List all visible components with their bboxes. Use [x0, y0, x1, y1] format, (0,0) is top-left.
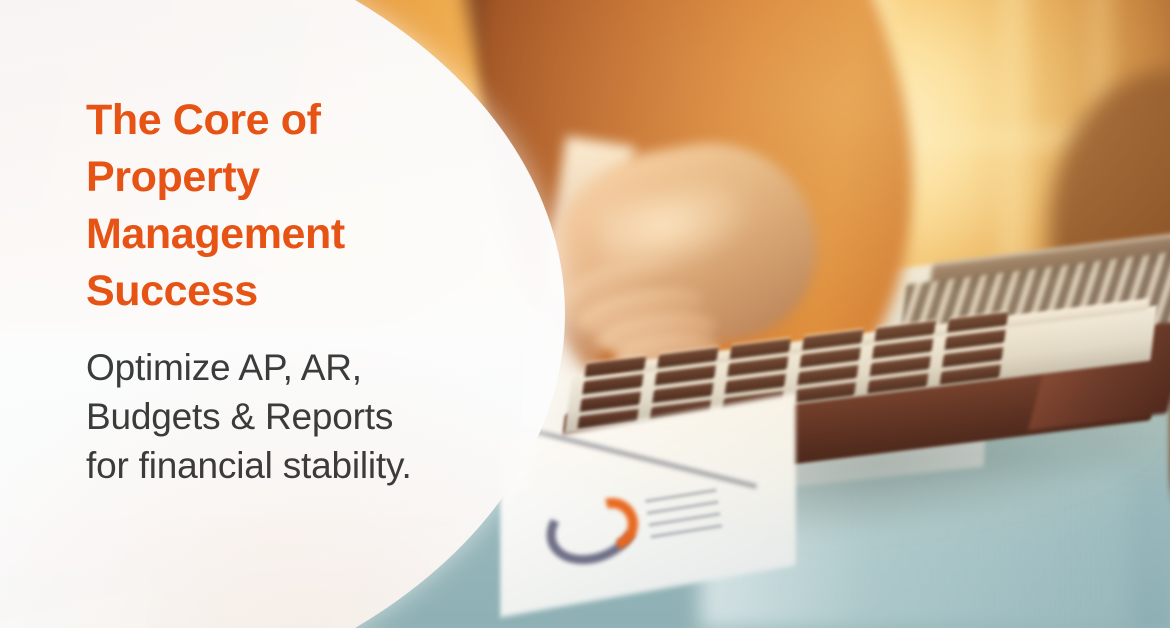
hero-banner: The Core of Property Management Success … — [0, 0, 1170, 628]
page-subtitle: Optimize AP, AR, Budgets & Reports for f… — [86, 343, 506, 490]
page-title: The Core of Property Management Success — [86, 92, 506, 320]
hero-text-block: The Core of Property Management Success … — [86, 92, 506, 490]
